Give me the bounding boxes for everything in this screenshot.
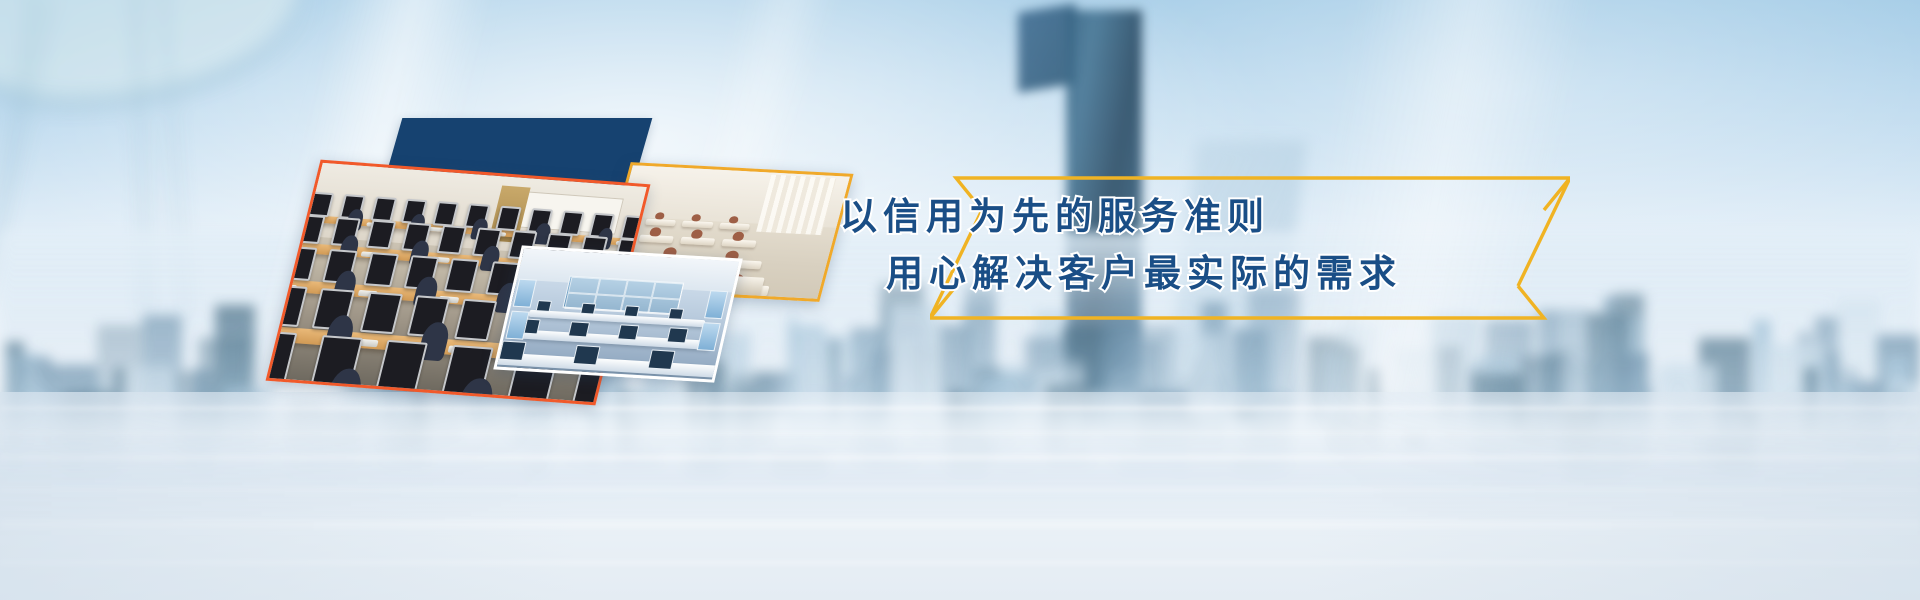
photo-control-room[interactable] (493, 245, 743, 382)
headline-line-2: 用心解决客户最实际的需求 (886, 245, 1580, 302)
headline-block: 以信用为先的服务准则 用心解决客户最实际的需求 (840, 188, 1580, 328)
foreground-ground (0, 392, 1920, 600)
photo-collage (280, 100, 860, 400)
hero-banner: 以信用为先的服务准则 用心解决客户最实际的需求 (0, 0, 1920, 600)
headline-line-1: 以信用为先的服务准则 (840, 188, 1580, 245)
